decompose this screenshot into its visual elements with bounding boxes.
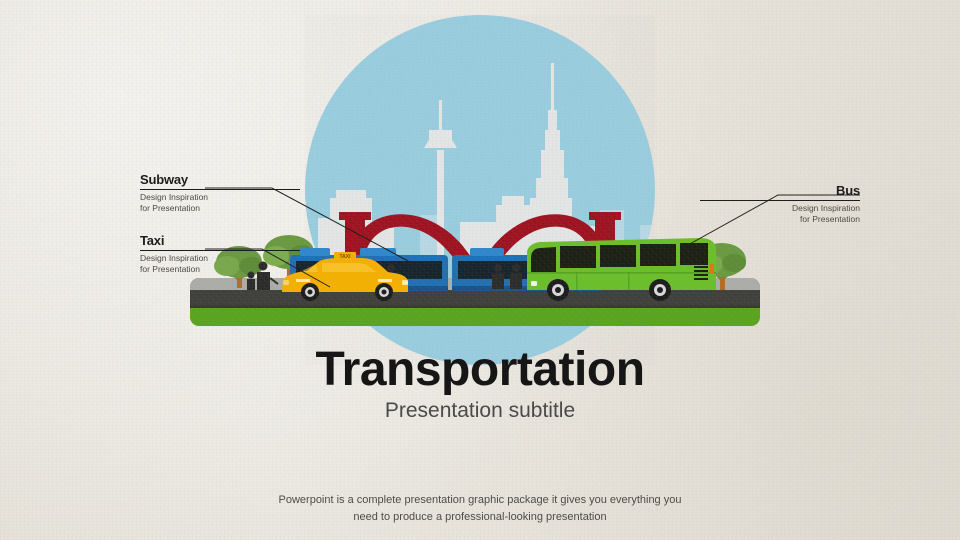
callout-subway-rule [140, 189, 300, 190]
slide-footer: Powerpoint is a complete presentation gr… [0, 492, 960, 526]
callout-subway[interactable]: Subway Design Inspiration for Presentati… [140, 172, 300, 213]
callout-bus-title: Bus [700, 183, 860, 198]
callout-subway-desc-line-1: Design Inspiration [140, 192, 300, 203]
callout-bus-rule [700, 200, 860, 201]
bus-wheel [547, 279, 569, 301]
taxi-wheel [375, 283, 393, 301]
callout-subway-desc-line-2: for Presentation [140, 203, 300, 214]
footer-line-1: Powerpoint is a complete presentation gr… [0, 492, 960, 509]
callout-bus-desc-line-1: Design Inspiration [700, 203, 860, 214]
callout-taxi-desc-line-2: for Presentation [140, 264, 300, 275]
person-child [247, 272, 255, 291]
callout-taxi[interactable]: Taxi Design Inspiration for Presentation [140, 233, 300, 274]
callout-bus[interactable]: Bus Design Inspiration for Presentation [700, 183, 860, 224]
presentation-slide: TAXI [0, 0, 960, 540]
slide-subtitle: Presentation subtitle [0, 398, 960, 424]
callout-taxi-desc-line-1: Design Inspiration [140, 253, 300, 264]
callout-taxi-title: Taxi [140, 233, 300, 248]
taxi-sign-text: TAXI [339, 254, 351, 260]
taxi-wheel [301, 283, 319, 301]
slide-title: Transportation [0, 344, 960, 396]
footer-line-2: need to produce a professional-looking p… [0, 509, 960, 526]
bus-wheel [649, 279, 671, 301]
callout-taxi-rule [140, 250, 300, 251]
callout-bus-desc-line-2: for Presentation [700, 214, 860, 225]
callout-subway-title: Subway [140, 172, 300, 187]
